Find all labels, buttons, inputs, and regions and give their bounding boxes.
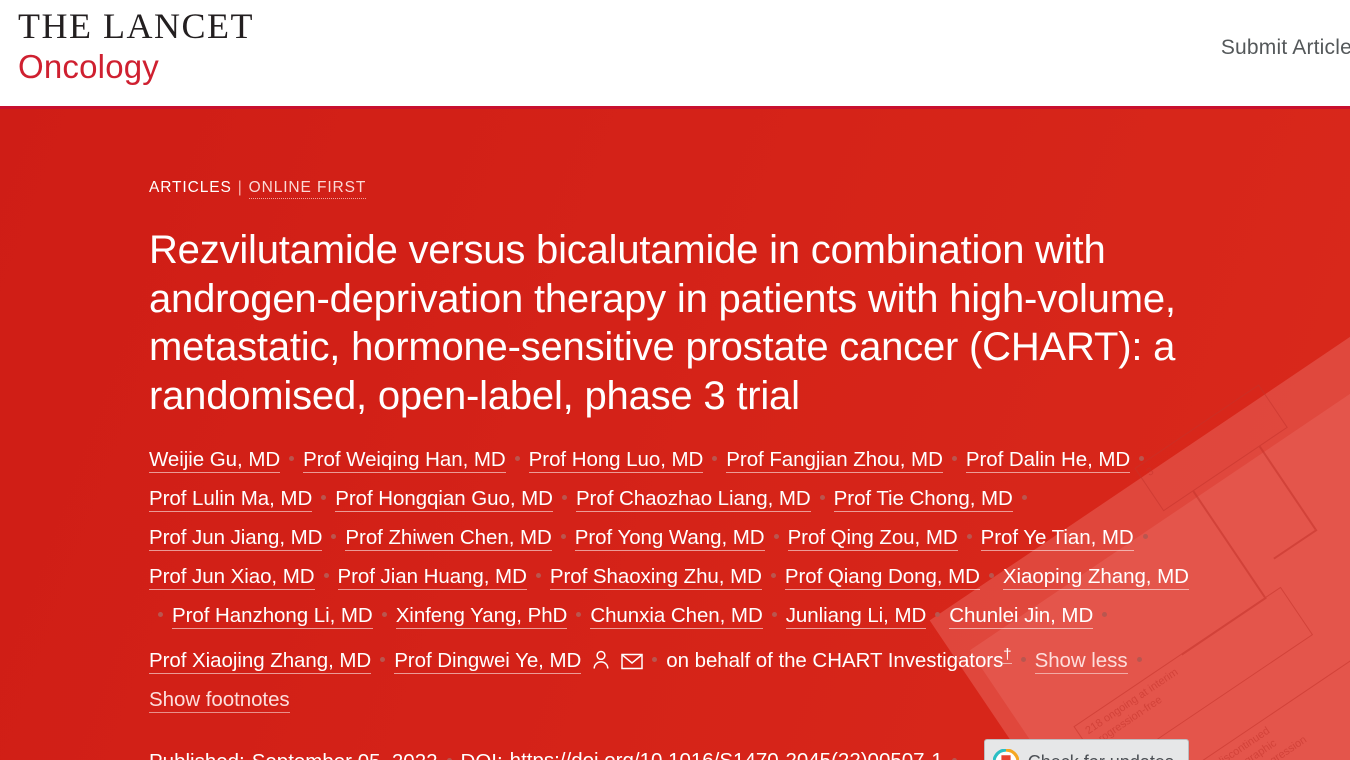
author-separator-dot [989, 573, 994, 578]
author-separator-dot [321, 495, 326, 500]
author-separator-dot [576, 612, 581, 617]
author-separator-dot [1102, 612, 1107, 617]
author-separator-dot [536, 573, 541, 578]
author-link[interactable]: Xinfeng Yang, PhD [396, 604, 568, 629]
published-label: Published: [149, 745, 245, 760]
author-link[interactable]: Prof Hong Luo, MD [529, 448, 704, 473]
author-separator-dot [712, 456, 717, 461]
envelope-icon[interactable] [621, 652, 643, 670]
author-separator-dot [1022, 495, 1027, 500]
author-separator-dot [515, 456, 520, 461]
article-header-block: ARTICLES|ONLINE FIRST Rezvilutamide vers… [149, 179, 1259, 760]
author-separator-dot [561, 534, 566, 539]
article-title: Rezvilutamide versus bicalutamide in com… [149, 226, 1239, 420]
group-author-footnote-marker[interactable]: † [1003, 646, 1011, 664]
author-link[interactable]: Prof Qing Zou, MD [788, 526, 958, 551]
author-link[interactable]: Chunlei Jin, MD [949, 604, 1093, 629]
author-separator-dot [382, 612, 387, 617]
author-separator-dot [820, 495, 825, 500]
crossmark-icon [993, 749, 1019, 760]
author-list: Weijie Gu, MDProf Weiqing Han, MDProf Ho… [149, 440, 1209, 719]
author-separator-dot [331, 534, 336, 539]
journal-logo[interactable]: THE LANCET Oncology [18, 8, 254, 83]
kicker-separator: | [238, 179, 243, 196]
author-link[interactable]: Prof Xiaojing Zhang, MD [149, 649, 371, 674]
author-link[interactable]: Prof Hongqian Guo, MD [335, 487, 553, 512]
article-kicker: ARTICLES|ONLINE FIRST [149, 179, 1259, 197]
article-landing-page: THE LANCET Oncology Submit Article 3 218… [0, 0, 1350, 760]
author-link[interactable]: Prof Lulin Ma, MD [149, 487, 312, 512]
author-link[interactable]: Prof Qiang Dong, MD [785, 565, 980, 590]
journal-logo-lancet: THE LANCET [18, 8, 254, 44]
author-link[interactable]: Prof Fangjian Zhou, MD [726, 448, 943, 473]
journal-logo-oncology: Oncology [18, 50, 254, 83]
check-for-updates-badge[interactable]: Check for updates [984, 739, 1189, 760]
author-link[interactable]: Weijie Gu, MD [149, 448, 280, 473]
author-link[interactable]: Prof Weiqing Han, MD [303, 448, 506, 473]
author-link[interactable]: Junliang Li, MD [786, 604, 927, 629]
author-separator-dot [772, 612, 777, 617]
author-link[interactable]: Prof Jun Xiao, MD [149, 565, 315, 590]
author-link[interactable]: Prof Chaozhao Liang, MD [576, 487, 811, 512]
author-separator-dot [652, 657, 657, 662]
author-separator-dot [952, 456, 957, 461]
author-separator-dot [1143, 534, 1148, 539]
show-less-button[interactable]: Show less [1035, 649, 1128, 674]
show-footnotes-button[interactable]: Show footnotes [149, 688, 290, 713]
author-separator-dot [380, 657, 385, 662]
author-separator-dot [324, 573, 329, 578]
person-icon[interactable] [591, 649, 611, 670]
author-link[interactable]: Prof Ye Tian, MD [981, 526, 1134, 551]
kicker-online-first-link[interactable]: ONLINE FIRST [249, 179, 367, 199]
published-date: September 05, 2022 [252, 745, 438, 760]
author-link[interactable]: Prof Jian Huang, MD [338, 565, 527, 590]
author-link[interactable]: Xiaoping Zhang, MD [1003, 565, 1189, 590]
author-separator-dot [935, 612, 940, 617]
author-link[interactable]: Prof Dalin He, MD [966, 448, 1130, 473]
submit-article-link[interactable]: Submit Article [1221, 36, 1350, 59]
author-link[interactable]: Prof Hanzhong Li, MD [172, 604, 373, 629]
masthead-nav: Submit Article [1221, 36, 1350, 60]
author-link[interactable]: Prof Zhiwen Chen, MD [345, 526, 551, 551]
article-hero: 3 218 ongoing at interim progression-fre… [0, 109, 1350, 760]
group-author-label: on behalf of the CHART Investigators [666, 649, 1003, 672]
author-separator-dot [771, 573, 776, 578]
author-separator-dot [1137, 657, 1142, 662]
author-link[interactable]: Prof Jun Jiang, MD [149, 526, 322, 551]
author-separator-dot [289, 456, 294, 461]
author-separator-dot [562, 495, 567, 500]
author-separator-dot [158, 612, 163, 617]
corresponding-author-link[interactable]: Prof Dingwei Ye, MD [394, 649, 581, 674]
author-separator-dot [1139, 456, 1144, 461]
author-link[interactable]: Prof Tie Chong, MD [834, 487, 1013, 512]
check-for-updates-label: Check for updates [1028, 745, 1174, 760]
author-separator-dot [774, 534, 779, 539]
publication-info: Published: September 05, 2022 DOI: https… [149, 739, 1259, 760]
kicker-section-label: ARTICLES [149, 179, 232, 196]
doi-link[interactable]: https://doi.org/10.1016/S1470-2045(22)00… [510, 744, 943, 760]
author-link[interactable]: Prof Shaoxing Zhu, MD [550, 565, 762, 590]
flow-connector [1259, 446, 1316, 530]
doi-label: DOI: [461, 745, 503, 760]
flow-connector [1273, 529, 1317, 559]
author-separator-dot [967, 534, 972, 539]
author-separator-dot [1021, 657, 1026, 662]
author-link[interactable]: Chunxia Chen, MD [590, 604, 762, 629]
site-masthead: THE LANCET Oncology Submit Article [0, 0, 1350, 109]
author-link[interactable]: Prof Yong Wang, MD [575, 526, 765, 551]
